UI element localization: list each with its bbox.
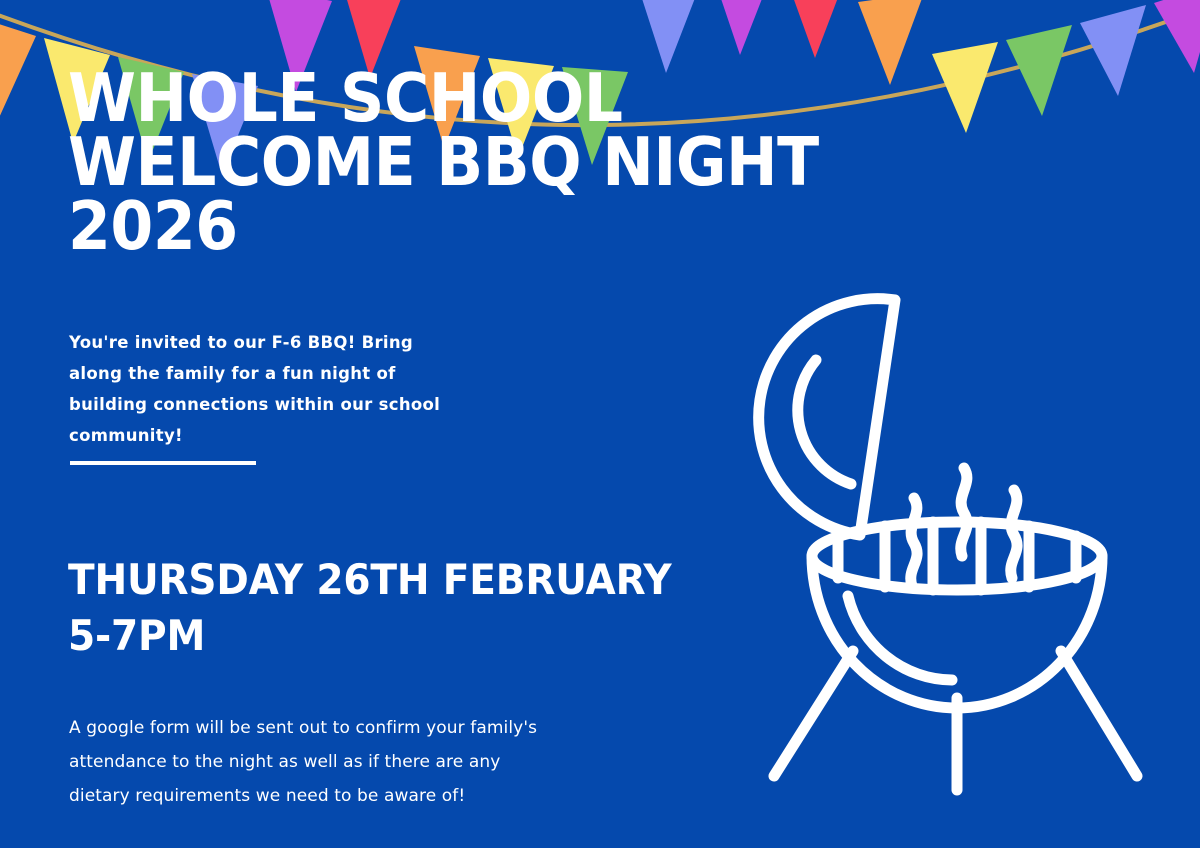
page-title-line-1: WHOLE SCHOOL [68, 66, 832, 130]
event-time: 5-7PM [68, 608, 719, 664]
bunting-flag [636, 0, 702, 73]
divider-rule [70, 461, 256, 465]
bunting-flag [710, 0, 776, 55]
bunting-flag [784, 0, 850, 58]
intro-paragraph: You're invited to our F-6 BBQ! Bring alo… [69, 327, 469, 451]
grill-grate-rim [812, 522, 1102, 590]
footnote-paragraph: A google form will be sent out to confir… [69, 711, 539, 813]
grill-bowl-inner-arc [848, 596, 952, 680]
bunting-flag [0, 16, 36, 120]
event-date: THURSDAY 26TH FEBRUARY [68, 552, 719, 608]
bunting-flag [1080, 5, 1146, 96]
smoke-wisp [911, 498, 917, 586]
page-title-line-3: 2026 [68, 194, 832, 258]
bunting-flag [1154, 0, 1200, 73]
bunting-flag [1006, 25, 1072, 116]
poster-canvas: WHOLE SCHOOL WELCOME BBQ NIGHT 2026 You'… [0, 0, 1200, 848]
grill-lid [759, 299, 895, 535]
page-title-line-2: WELCOME BBQ NIGHT [68, 130, 832, 194]
grill-leg-left [774, 651, 853, 776]
grill-lid-inner-arc [798, 360, 851, 484]
grill-leg-right [1061, 651, 1137, 776]
bbq-grill-icon [752, 268, 1152, 808]
bunting-flag [932, 42, 998, 133]
smoke-wisp [961, 468, 967, 556]
grill-bowl [812, 556, 1102, 708]
event-date-time: THURSDAY 26TH FEBRUARY 5-7PM [68, 552, 768, 664]
page-title: WHOLE SCHOOL WELCOME BBQ NIGHT 2026 [68, 66, 898, 258]
smoke-wisp [1011, 490, 1017, 578]
